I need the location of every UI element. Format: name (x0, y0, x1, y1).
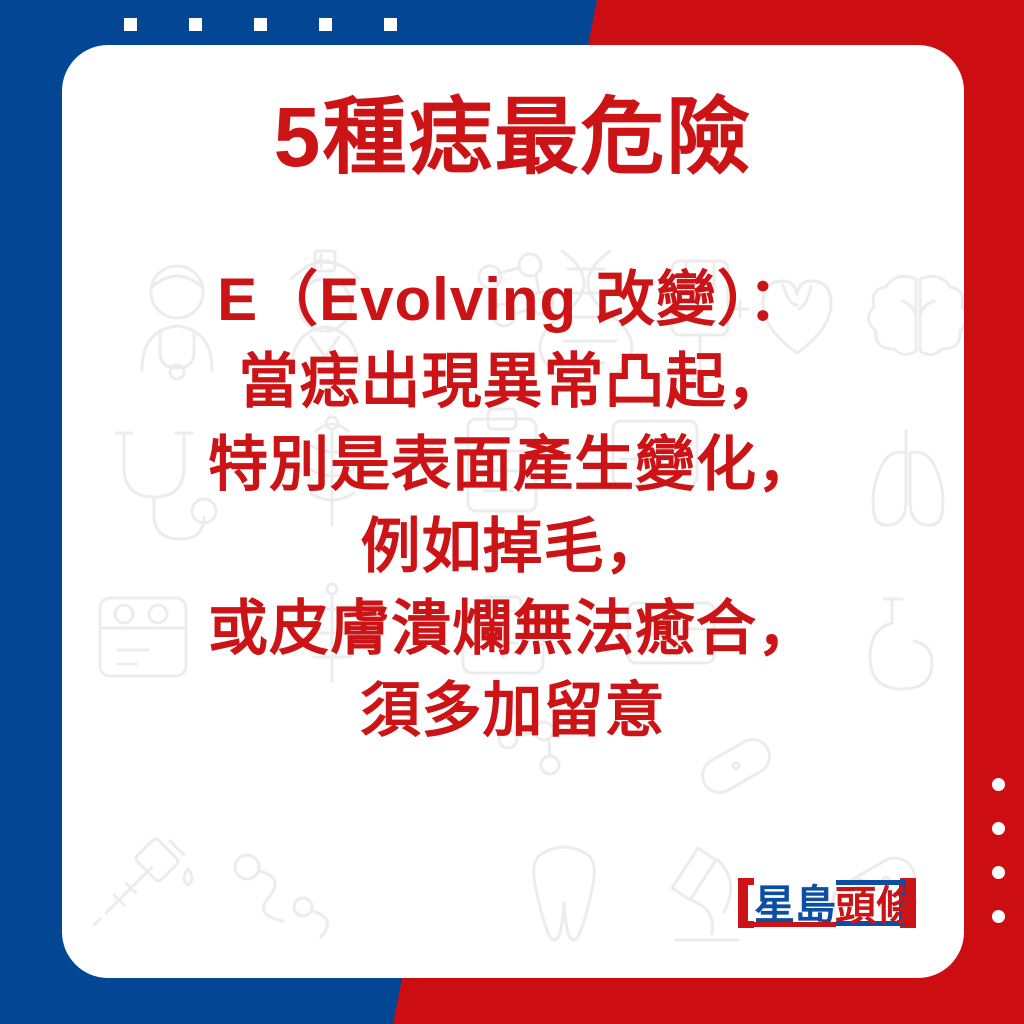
body-line: 例如掉毛， (62, 506, 964, 588)
body-line: 特別是表面產生變化， (62, 424, 964, 506)
body-line: 須多加留意 (62, 670, 964, 752)
right-decoration-dots (992, 778, 1005, 923)
decoration-dot (992, 866, 1005, 879)
logo-text-blue: 星島 (754, 882, 836, 928)
decoration-dot (992, 778, 1005, 791)
decoration-square (384, 18, 397, 31)
decoration-dot (992, 910, 1005, 923)
decoration-square (124, 18, 137, 31)
body-text: E（Evolving 改變）： 當痣出現異常凸起， 特別是表面產生變化， 例如掉… (62, 259, 964, 752)
sing-tao-headline-logo: 星島 頭條 (734, 874, 920, 932)
logo-text-red: 頭條 (835, 883, 917, 929)
body-line: 或皮膚潰爛無法癒合， (62, 588, 964, 670)
body-line: 當痣出現異常凸起， (62, 341, 964, 423)
card-content: 5種痣最危險 E（Evolving 改變）： 當痣出現異常凸起， 特別是表面產生… (62, 45, 964, 978)
decoration-square (254, 18, 267, 31)
top-decoration-squares (124, 18, 397, 31)
poster-root: 5種痣最危險 E（Evolving 改變）： 當痣出現異常凸起， 特別是表面產生… (0, 0, 1024, 1024)
content-card: 5種痣最危險 E（Evolving 改變）： 當痣出現異常凸起， 特別是表面產生… (62, 45, 964, 978)
body-line: E（Evolving 改變）： (62, 259, 964, 341)
decoration-dot (992, 822, 1005, 835)
decoration-square (319, 18, 332, 31)
decoration-square (189, 18, 202, 31)
page-title: 5種痣最危險 (274, 93, 753, 181)
